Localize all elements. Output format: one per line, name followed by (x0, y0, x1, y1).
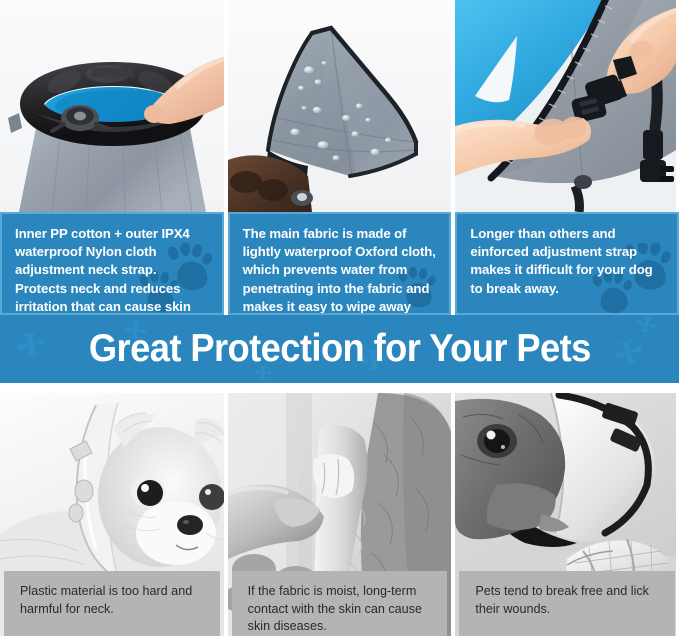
feature-caption-waterproof-oxford: The main fabric is made of lightly water… (228, 212, 452, 315)
product-infographic: Inner PP cotton + outer IPX4 waterproof … (0, 0, 679, 636)
problem-panels-row: Plastic material is too hard and harmful… (0, 393, 679, 636)
feature-caption-collar-neck-strap: Inner PP cotton + outer IPX4 waterproof … (0, 212, 224, 315)
feature-caption-text: Longer than others and einforced adjustm… (470, 225, 664, 298)
feature-panels-row: Inner PP cotton + outer IPX4 waterproof … (0, 0, 679, 315)
feature-panel-reinforced-strap: Longer than others and einforced adjustm… (455, 0, 679, 315)
problem-caption-text: If the fabric is moist, long-term contac… (248, 583, 432, 636)
problem-caption-text: Plastic material is too hard and harmful… (20, 583, 204, 618)
problem-caption-plastic-cone-hard: Plastic material is too hard and harmful… (4, 571, 220, 636)
feature-caption-text: The main fabric is made of lightly water… (243, 225, 437, 315)
problem-panel-plastic-cone-hard: Plastic material is too hard and harmful… (0, 393, 224, 636)
feature-caption-text: Inner PP cotton + outer IPX4 waterproof … (15, 225, 209, 315)
photo-collar-neck-strap-finger (0, 0, 224, 212)
feature-panel-collar-neck-strap: Inner PP cotton + outer IPX4 waterproof … (0, 0, 224, 315)
photo-hands-buckle-strap (455, 0, 679, 212)
headline-banner: Great Protection for Your Pets (0, 315, 679, 383)
problem-panel-moist-fabric-skin: If the fabric is moist, long-term contac… (228, 393, 452, 636)
banner-divider (0, 383, 679, 393)
problem-caption-pets-break-free: Pets tend to break free and lick their w… (459, 571, 675, 636)
problem-caption-moist-fabric-skin: If the fabric is moist, long-term contac… (232, 571, 448, 636)
photo-collar-water-droplets (228, 0, 452, 212)
feature-caption-reinforced-strap: Longer than others and einforced adjustm… (455, 212, 679, 315)
problem-panel-pets-break-free: Pets tend to break free and lick their w… (455, 393, 679, 636)
problem-caption-text: Pets tend to break free and lick their w… (475, 583, 659, 618)
page-title: Great Protection for Your Pets (89, 327, 591, 371)
feature-panel-waterproof-oxford: The main fabric is made of lightly water… (228, 0, 452, 315)
